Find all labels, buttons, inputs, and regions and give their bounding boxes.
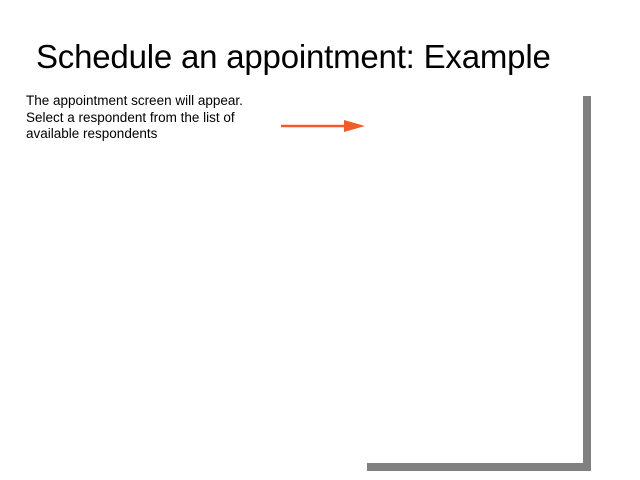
panel-shadow-bottom [367, 463, 591, 471]
screenshot-panel: Select a respondent None [286, 90, 583, 463]
instruction-text: The appointment screen will appear. Sele… [26, 93, 256, 143]
presentation-slide: Schedule an appointment: Example The app… [0, 0, 640, 480]
panel-shadow-right [583, 96, 591, 471]
page-title: Schedule an appointment: Example [36, 38, 616, 76]
annotation-arrow-icon [281, 117, 367, 135]
